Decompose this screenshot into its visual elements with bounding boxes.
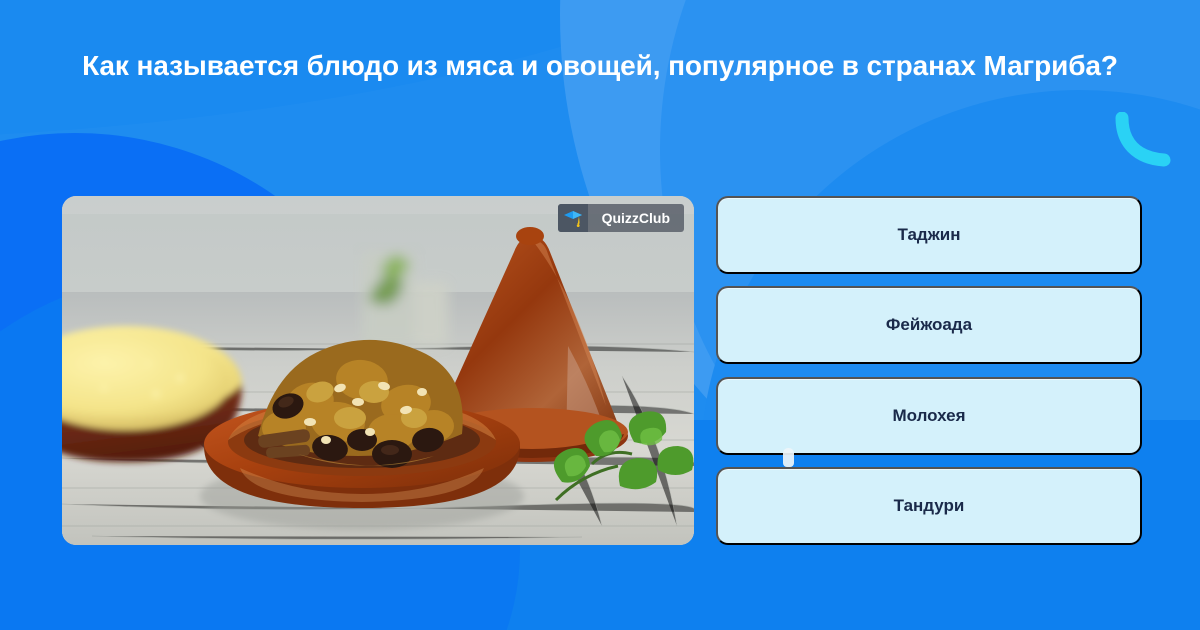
graduation-cap-icon (558, 204, 588, 232)
quiz-card: Как называется блюдо из мяса и овощей, п… (0, 0, 1200, 630)
question-image-card: QuizzClub (62, 196, 694, 545)
answer-option-2[interactable]: Фейжоада (716, 286, 1142, 364)
answer-options-list: Таджин Фейжоада Молохея Тандури (716, 196, 1142, 545)
cursor-artifact (783, 448, 794, 467)
answer-option-4[interactable]: Тандури (716, 467, 1142, 545)
answer-option-3[interactable]: Молохея (716, 377, 1142, 455)
cyan-arc-accent-icon (1112, 112, 1174, 170)
quizzclub-watermark: QuizzClub (558, 204, 684, 232)
tagine-photo (62, 196, 694, 545)
question-text: Как называется блюдо из мяса и овощей, п… (60, 46, 1140, 85)
watermark-label: QuizzClub (588, 210, 670, 226)
answer-option-1[interactable]: Таджин (716, 196, 1142, 274)
